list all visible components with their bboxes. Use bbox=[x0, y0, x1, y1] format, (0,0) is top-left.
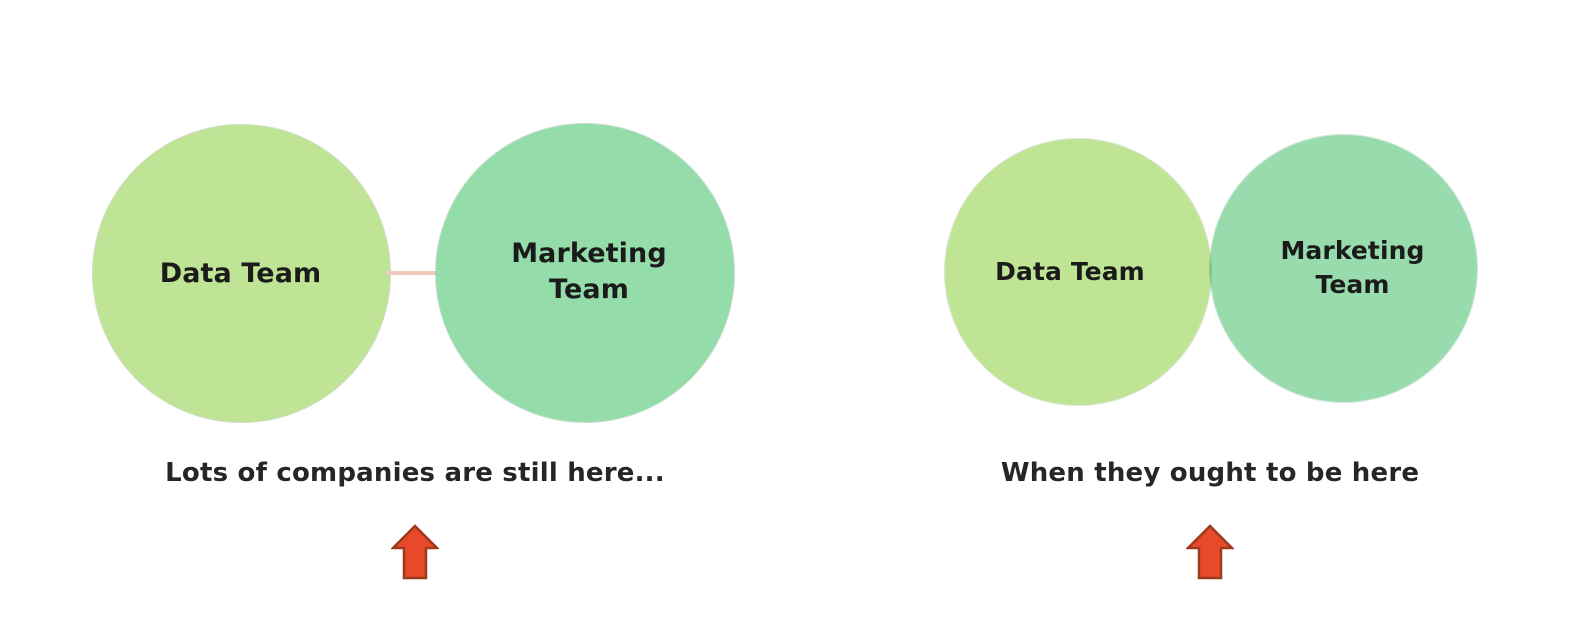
circle-data-team-overlap[interactable]: Data Team bbox=[945, 139, 1211, 405]
arrow-up-icon-separate bbox=[391, 524, 439, 580]
caption-separate: Lots of companies are still here... bbox=[0, 458, 830, 488]
circle-marketing-team-overlap[interactable]: Marketing Team bbox=[1210, 135, 1477, 402]
circle-label-marketing-team: Marketing Team bbox=[511, 236, 667, 308]
connector-line-separate bbox=[386, 271, 440, 275]
circle-data-team-separate[interactable]: Data Team bbox=[93, 125, 390, 422]
circle-marketing-team-separate[interactable]: Marketing Team bbox=[436, 124, 734, 422]
circle-label-data-team: Data Team bbox=[995, 255, 1145, 288]
venn-group-overlap: Data Team Marketing Team bbox=[790, 0, 1570, 636]
circle-label-data-team: Data Team bbox=[160, 256, 322, 292]
caption-overlap: When they ought to be here bbox=[790, 458, 1570, 488]
circle-label-marketing-team: Marketing Team bbox=[1280, 234, 1424, 301]
diagram-canvas: Data Team Marketing Team Data Team Marke… bbox=[0, 0, 1570, 636]
arrow-up-icon-overlap bbox=[1186, 524, 1234, 580]
